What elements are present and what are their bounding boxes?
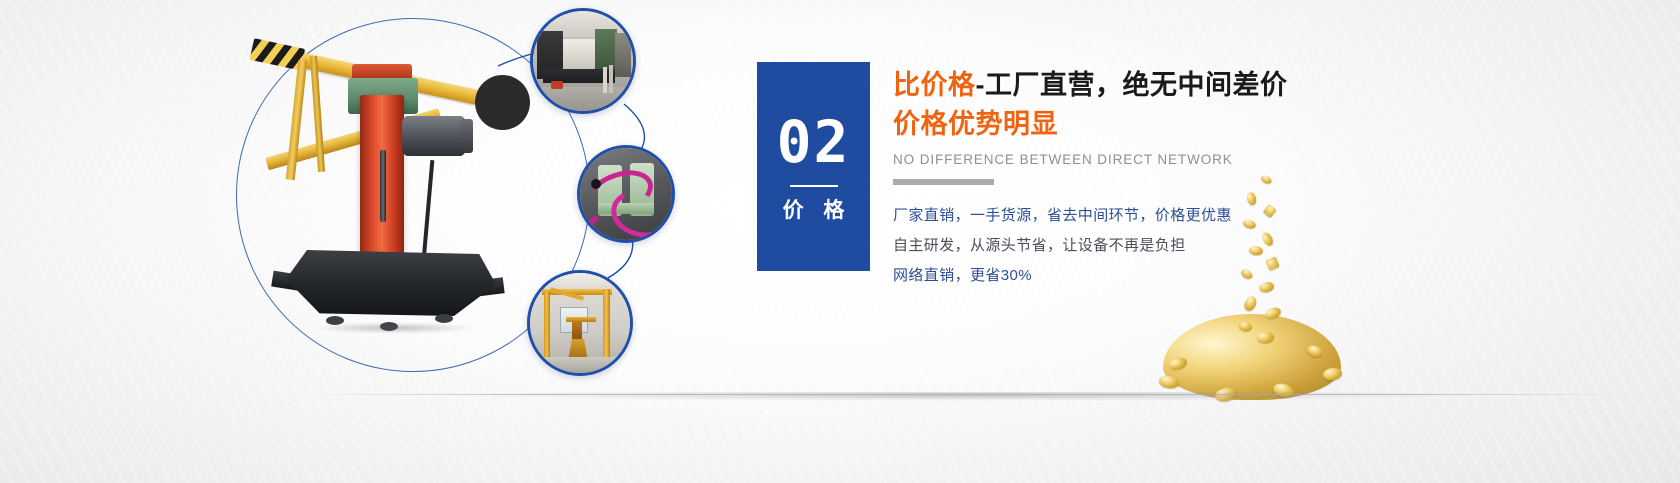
- crane-manipulator-illustration: [230, 20, 530, 360]
- control-rod: [422, 160, 435, 260]
- badge-divider: [790, 185, 838, 187]
- base-plate: [286, 250, 496, 316]
- machine-shadow: [282, 320, 507, 336]
- motor-body: [402, 116, 466, 156]
- falling-gold-coins: [1155, 170, 1345, 400]
- headline: 比价格-工厂直营，绝无中间差价: [893, 66, 1363, 104]
- badge-label: 价 格: [776, 200, 852, 221]
- step-number-badge: 02 价 格: [757, 62, 870, 271]
- motor-end-cap: [460, 119, 473, 153]
- english-subtitle: NO DIFFERENCE BETWEEN DIRECT NETWORK: [893, 152, 1363, 167]
- badge-number: 02: [777, 113, 851, 171]
- hydraulic-rod: [380, 150, 386, 222]
- black-circle-decoration: [475, 75, 530, 130]
- product-photo-cluster: [200, 0, 760, 400]
- hydraulic-valves-photo: [577, 145, 675, 243]
- section-divider: [893, 179, 994, 185]
- gantry-manipulator-photo: [527, 270, 633, 376]
- headline-highlight: 比价格: [893, 70, 976, 100]
- coin-stream: [1239, 176, 1283, 344]
- promo-banner: 02 价 格 比价格-工厂直营，绝无中间差价 价格优势明显 NO DIFFERE…: [0, 0, 1680, 483]
- workshop-lathes-photo: [530, 8, 636, 114]
- bottom-shelf-line: [300, 394, 1630, 395]
- headline-rest: -工厂直营，绝无中间差价: [976, 70, 1288, 100]
- mast-strut-left: [286, 60, 307, 180]
- subheadline: 价格优势明显: [893, 105, 1363, 143]
